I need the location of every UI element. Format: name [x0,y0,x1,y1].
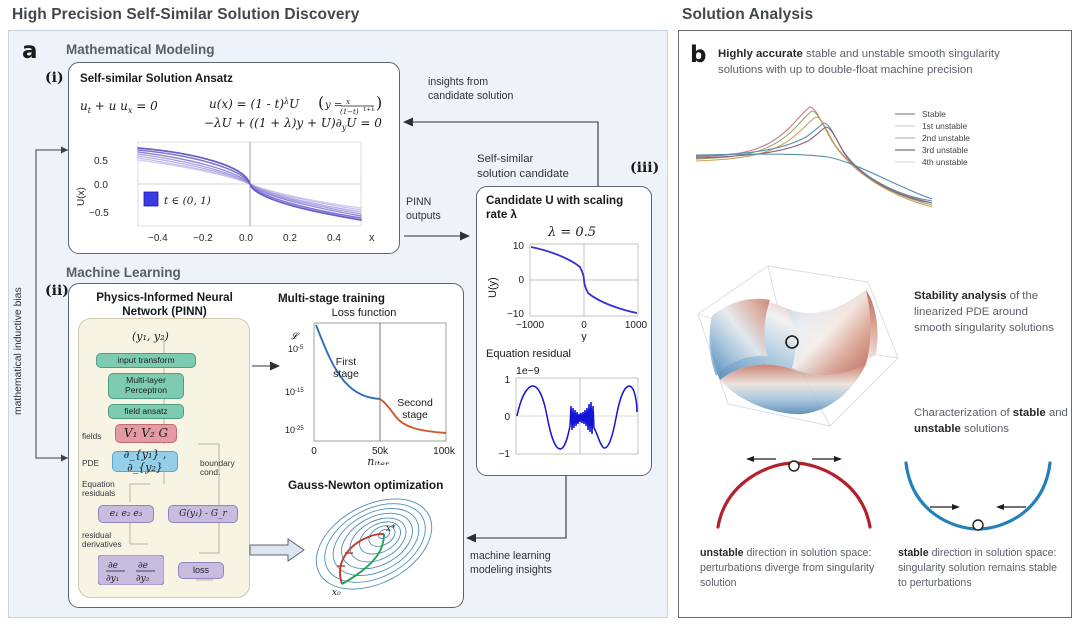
svg-text:10-15: 10-15 [285,387,304,397]
residual-scale: 1e−9 [516,365,540,377]
ansatz-equations: ut + u ux = 0 u(x) = (1 - t)λU ( y = x (… [74,88,394,132]
svg-text:stage: stage [333,368,359,380]
ansatz-legend-swatch [144,192,158,206]
pinn-label-boundary-cond: boundary cond. [200,459,235,477]
pinn-label-equation-residuals: Equation residuals [82,480,115,498]
pinn-label-fields: fields [82,432,101,441]
loss-plot-title: Loss function [332,307,397,319]
anno-first-stage: First [336,356,356,368]
pinn-box-boundary-residual: G(y₁) - G_r [168,505,238,523]
svg-text:∂e: ∂e [138,561,148,571]
svg-text:t ∈ (0, 1): t ∈ (0, 1) [164,195,211,207]
svg-text:u(x) = (1 - t)λU: u(x) = (1 - t)λU [209,97,300,111]
pinn-node-input-transform: input transform [96,353,196,368]
caption-characterization-tail: solutions [964,423,1009,435]
pinn-box-equation-residuals: e₁ e₂ e₃ [98,505,154,523]
stability-surface-3d [690,238,910,443]
panel-b-letter: b [690,42,706,68]
svg-text:0.0: 0.0 [94,180,108,191]
svg-text:0: 0 [518,275,524,286]
svg-text:U(x): U(x) [76,187,87,206]
caption-characterization-and: and [1049,407,1068,419]
pinn-node-mlp: Multi-layer Perceptron [108,373,184,399]
svg-text:100k: 100k [433,446,456,457]
svg-text:x₀: x₀ [332,588,341,598]
arrow-to-gauss-newton [248,536,308,564]
anno-second-stage: Second [397,397,433,409]
legend-item-2nd-unstable: 2nd unstable [922,133,970,143]
svg-text:0.0: 0.0 [239,233,253,244]
svg-text:0: 0 [504,412,510,423]
page-title-right: Solution Analysis [682,6,813,24]
svg-text:1: 1 [504,375,510,386]
caption-characterization-stable: stable [1013,407,1046,419]
pinn-label-pde: PDE [82,459,99,468]
svg-text:−1: −1 [499,449,511,460]
candidate-header: Self-similar solution candidate [477,152,569,182]
pinn-label-residual-derivatives: residual derivatives [82,531,122,549]
svg-text:∂y₁: ∂y₁ [106,574,119,584]
caption-stability-analysis: Stability analysis of the linearized PDE… [914,288,1064,337]
svg-text:1+λ: 1+λ [363,107,375,113]
svg-text:x: x [369,232,375,244]
svg-text:ut + u ux = 0: ut + u ux = 0 [80,99,158,115]
caption-unstable-direction: unstable direction in solution space: pe… [700,546,875,591]
svg-text:−10: −10 [507,309,524,320]
caption-characterization: Characterization of stable and unstable … [914,405,1069,437]
svg-text:y: y [581,331,587,342]
residual-title: Equation residual [486,348,571,360]
training-title: Multi-stage training [278,292,385,305]
caption-unstable-bold: unstable [700,547,744,559]
svg-text:𝓛: 𝓛 [291,332,300,342]
panel-a-letter: a [22,38,38,64]
svg-text:x*: x* [386,524,396,534]
label-roman-i: (i) [45,70,64,86]
caption-stable-direction: stable direction in solution space: sing… [898,546,1063,591]
unstable-ball-marker [789,461,799,471]
svg-text:−λU + ((1 + λ)y + U)∂yU = 0: −λU + ((1 + λ)y + U)∂yU = 0 [204,116,382,132]
svg-text:0: 0 [581,320,587,331]
caption-characterization-line1: Characterization of [914,407,1010,419]
svg-text:stage: stage [402,409,428,421]
candidate-plot: λ = 0.5 10 0 −10 U(y) −1000 0 1000 y [480,222,648,342]
svg-text:50k: 50k [372,446,389,457]
caption-stable-bold: stable [898,547,929,559]
svg-text:0: 0 [311,446,317,457]
label-ml-modeling-insights: machine learning modeling insights [470,550,552,577]
svg-text:10-25: 10-25 [285,425,304,435]
svg-text:∂e: ∂e [108,561,118,571]
pinn-input-label: (y₁, y₂) [132,330,169,343]
svg-text:−1000: −1000 [516,320,545,331]
caption-characterization-unstable: unstable [914,423,961,435]
label-pinn-outputs: PINN outputs [406,196,441,223]
legend-item-1st-unstable: 1st unstable [922,121,968,131]
svg-text:U(y): U(y) [487,277,499,298]
svg-text:−0.5: −0.5 [89,208,109,219]
caption-highly-accurate-bold: Highly accurate [718,48,803,60]
legend-item-4th-unstable: 4th unstable [922,157,968,167]
svg-text:0.2: 0.2 [283,233,297,244]
section-mathematical-modeling: Mathematical Modeling [66,42,215,57]
gauss-newton-title: Gauss-Newton optimization [288,478,443,492]
pinn-node-field-ansatz: field ansatz [108,404,184,419]
arrow-ml-insights [456,470,576,550]
ansatz-plot: t ∈ (0, 1) 0.5 0.0 −0.5 U(x) −0.4 −0.2 0… [76,134,394,250]
svg-text:x: x [346,98,350,106]
svg-text:∂y₂: ∂y₂ [136,574,150,584]
gauss-newton-plot: x₀ x* [308,494,458,604]
svg-text:0.5: 0.5 [94,156,108,167]
svg-text:): ) [376,93,382,112]
section-machine-learning: Machine Learning [66,265,181,280]
caption-stability-analysis-bold: Stability analysis [914,290,1006,302]
arrow-pinn-outputs [404,228,474,244]
unstable-dome-diagram [708,455,878,535]
caption-highly-accurate: Highly accurate stable and unstable smoo… [718,46,1008,78]
lambda-value: λ = 0.5 [547,225,596,240]
svg-text:1000: 1000 [625,320,648,331]
svg-text:−0.2: −0.2 [193,233,213,244]
svg-text:(: ( [318,93,324,112]
pinn-box-pde: ∂_{y₁} , ∂_{y₂} [112,451,178,472]
legend-item-3rd-unstable: 3rd unstable [922,145,968,155]
stable-bowl-diagram [898,455,1058,535]
label-roman-iii: (iii) [630,160,659,176]
ansatz-title: Self-similar Solution Ansatz [80,72,233,85]
pinn-box-loss: loss [178,562,224,579]
svg-text:10: 10 [513,241,525,252]
svg-text:(1−t): (1−t) [340,108,359,116]
pinn-box-residual-derivatives: ∂e ∂y₁ ∂e ∂y₂ [98,555,164,585]
svg-text:−0.4: −0.4 [148,233,168,244]
legend-item-stable: Stable [922,109,946,119]
stable-ball-marker [973,520,983,530]
page-title-left: High Precision Self-Similar Solution Dis… [12,6,359,24]
residual-plot: 1e−9 1 0 −1 [480,360,648,470]
training-loss-plot: Loss function 𝓛 10-5 10-15 10-25 First s… [272,305,457,465]
pinn-box-fields: V₁ V₂ G [115,424,177,443]
svg-text:10-5: 10-5 [288,344,304,354]
svg-text:0.4: 0.4 [327,233,341,244]
label-inductive-bias: mathematical inductive bias [13,215,24,415]
candidate-card-title: Candidate U with scaling rate λ [486,194,646,223]
curves-legend: Stable 1st unstable 2nd unstable 3rd uns… [893,108,1008,170]
label-insights-from-candidate: insights from candidate solution [428,76,513,103]
